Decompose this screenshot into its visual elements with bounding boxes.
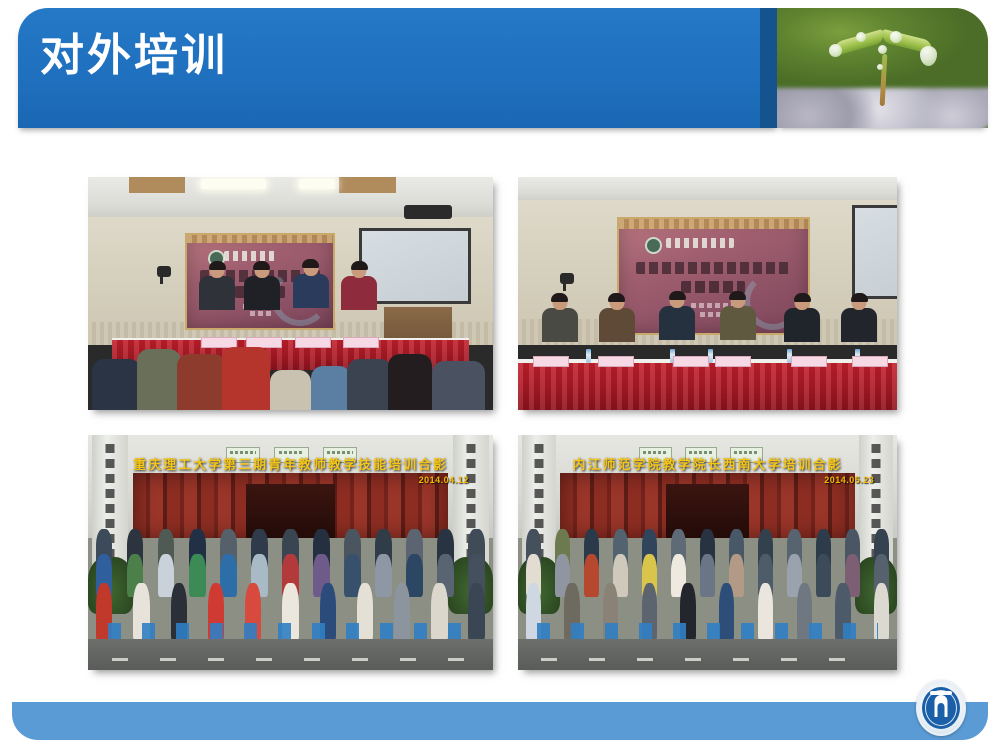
nameplate — [673, 356, 709, 367]
person-head — [730, 292, 745, 308]
university-seal-emblem-icon — [916, 680, 966, 736]
photo-chongqing-group: 重庆理工大学第三期青年教师教学技能培训合影 2014.04.12 — [88, 435, 493, 670]
university-logo-icon — [645, 237, 662, 254]
ground-pavement — [518, 639, 897, 670]
audience-member — [92, 359, 141, 410]
person-head — [795, 294, 810, 310]
person-hair — [608, 293, 625, 302]
person-hair — [794, 293, 811, 302]
person-head — [670, 292, 685, 308]
dewdrop — [856, 32, 866, 42]
wall-camera — [560, 273, 574, 284]
slide-header: 对外培训 — [0, 0, 1000, 140]
head-table-skirt — [518, 363, 897, 410]
person-hair — [209, 261, 226, 270]
side-screen — [852, 205, 897, 300]
seated-person — [242, 262, 282, 310]
person-head — [352, 262, 367, 278]
audience-member — [222, 347, 271, 410]
photo-jiangxi-opening-ceremony — [88, 177, 493, 410]
person-body — [784, 308, 820, 342]
person-body — [293, 274, 329, 308]
projection-screen — [617, 217, 811, 335]
person-body — [599, 308, 635, 342]
nameplate — [295, 337, 331, 348]
nameplate — [598, 356, 634, 367]
person-head — [210, 262, 225, 278]
screen-logo-text — [666, 238, 734, 248]
audience-member — [311, 366, 352, 410]
title-banner: 对外培训 — [18, 8, 778, 128]
nameplate — [791, 356, 827, 367]
audience-member — [270, 370, 311, 410]
person-body — [542, 308, 578, 342]
ceiling-light — [201, 179, 266, 188]
photo-date-stamp: 2014.04.12 — [419, 475, 469, 485]
audience-member — [137, 349, 182, 410]
ceiling-projector — [404, 205, 453, 219]
dewdrop — [829, 44, 842, 57]
photo-caption: 重庆理工大学第三期青年教师教学技能培训合影 — [104, 454, 477, 473]
nameplate — [715, 356, 751, 367]
water-bottle — [586, 349, 591, 363]
dewdrop — [890, 31, 902, 43]
person-hair — [253, 261, 270, 270]
person-body — [244, 276, 280, 310]
photo-neijiang-group: 内江师范学院教学院长西南大学培训合影 2014.05.23 — [518, 435, 897, 670]
seated-person — [541, 294, 579, 340]
photo-caption: 内江师范学院教学院长西南大学培训合影 — [533, 454, 882, 473]
person-body — [841, 308, 877, 342]
audience-member — [347, 359, 392, 410]
person-body — [199, 276, 235, 310]
emblem-gate-shape — [935, 695, 948, 717]
header-seedling-photo — [777, 8, 988, 128]
ground-pavement — [88, 639, 493, 670]
nameplate — [852, 356, 888, 367]
nameplate — [201, 337, 237, 348]
seated-person — [339, 262, 379, 310]
seated-person — [783, 294, 821, 340]
dewdrop — [877, 64, 883, 70]
seated-person — [658, 292, 696, 340]
nameplate — [246, 337, 282, 348]
person-hair — [669, 291, 686, 300]
photo-date-stamp: 2014.05.23 — [824, 475, 874, 485]
group-photo-scene: 重庆理工大学第三期青年教师教学技能培训合影 2014.04.12 — [88, 435, 493, 670]
page-title: 对外培训 — [40, 26, 228, 86]
screen-border-pattern — [619, 219, 809, 229]
person-hair — [851, 293, 868, 302]
group-photo-scene: 内江师范学院教学院长西南大学培训合影 2014.05.23 — [518, 435, 897, 670]
seated-person — [598, 294, 636, 340]
seated-person — [291, 260, 331, 310]
person-head — [609, 294, 624, 310]
person-body — [659, 306, 695, 340]
photo-guizhou-opening-ceremony — [518, 177, 897, 410]
hall-ceiling — [518, 177, 897, 200]
person-hair — [351, 261, 368, 270]
person-head — [254, 262, 269, 278]
nameplate — [533, 356, 569, 367]
screen-border-pattern — [187, 235, 333, 243]
person-head — [552, 294, 567, 310]
conference-hall-scene — [88, 177, 493, 410]
slide-footer — [12, 702, 988, 740]
ceiling-beam — [129, 177, 186, 193]
person-head — [852, 294, 867, 310]
person-head — [303, 260, 318, 276]
seated-person — [719, 292, 757, 340]
person-body — [341, 276, 377, 310]
conference-hall-scene — [518, 177, 897, 410]
ceiling-light — [299, 179, 335, 188]
seated-person — [840, 294, 878, 340]
ceiling-beam — [339, 177, 396, 193]
seated-person — [197, 262, 237, 310]
dewdrop — [878, 45, 887, 54]
person-hair — [551, 293, 568, 302]
person-body — [720, 306, 756, 340]
person-hair — [302, 259, 319, 268]
audience-member — [177, 354, 226, 410]
nameplate — [343, 337, 379, 348]
audience-member — [388, 354, 433, 410]
audience-member — [432, 361, 485, 410]
screen-logo-text — [224, 251, 276, 261]
screen-subtitle-line2 — [250, 311, 273, 316]
wall-camera — [157, 266, 171, 277]
person-hair — [729, 291, 746, 300]
